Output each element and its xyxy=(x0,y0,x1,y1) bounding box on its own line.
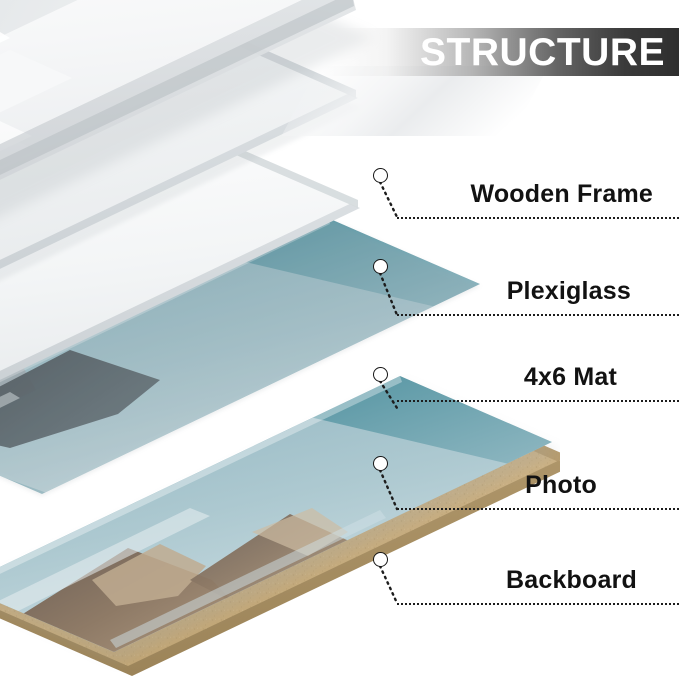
label-backboard: Backboard xyxy=(506,566,637,595)
marker-backboard[interactable] xyxy=(373,552,388,567)
underline-backboard xyxy=(397,603,679,605)
infographic-canvas: STRUCTURE Wooden Frame Plexiglass 4x6 Ma… xyxy=(0,0,679,679)
leader-line-backboard xyxy=(370,560,420,610)
callout-backboard: Backboard xyxy=(0,0,679,679)
